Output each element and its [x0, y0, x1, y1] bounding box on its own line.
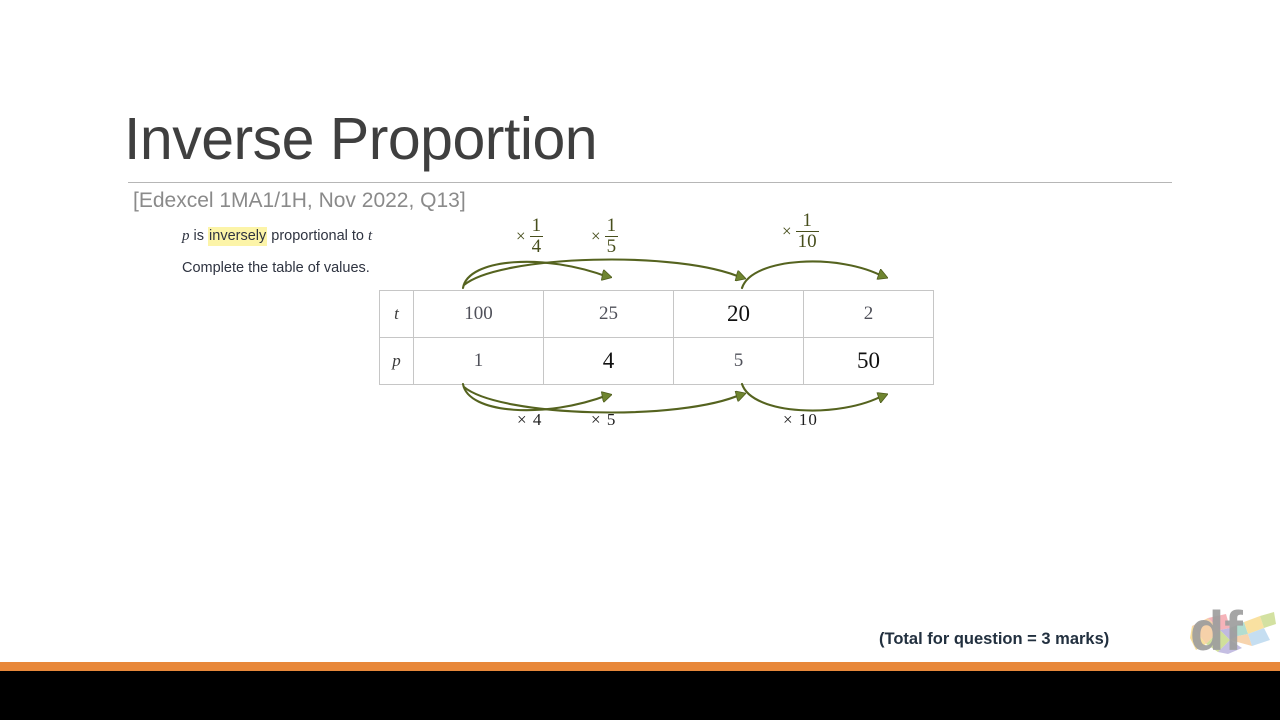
cell-p-3[interactable]: 5 [674, 338, 804, 385]
fraction-one-fifth: 15 [605, 216, 619, 257]
variable-t: t [368, 228, 372, 244]
fraction-one-tenth: 110 [796, 211, 819, 252]
times-sign-1: × [516, 226, 526, 245]
question-statement-line1: p is inversely proportional to t [182, 227, 372, 245]
label-times-four: × 4 [517, 410, 542, 430]
title-divider [128, 182, 1172, 183]
arc-p-5-to-50 [742, 384, 884, 411]
cell-p-4[interactable]: 50 [804, 338, 934, 385]
fraction-numerator: 1 [796, 211, 819, 231]
drfrostmaths-logo: df [1186, 592, 1278, 658]
variable-p: p [182, 228, 190, 244]
times-sign-3: × [782, 221, 792, 240]
fraction-denominator: 10 [796, 231, 819, 252]
highlighted-word-inversely: inversely [208, 227, 267, 246]
label-times-one-quarter: ×14 [516, 216, 543, 257]
table-row-p: p 1 4 5 50 [380, 338, 934, 385]
fraction-numerator: 1 [605, 216, 619, 236]
values-table: t 100 25 20 2 p 1 4 5 50 [379, 290, 934, 385]
fraction-one-quarter: 14 [530, 216, 544, 257]
arc-t-100-to-25 [463, 262, 608, 288]
cell-t-3[interactable]: 20 [674, 291, 804, 338]
arc-t-100-to-20 [464, 260, 742, 285]
table-row-t: t 100 25 20 2 [380, 291, 934, 338]
logo-letters: df [1190, 599, 1243, 658]
label-times-five: × 5 [591, 410, 616, 430]
fraction-denominator: 4 [530, 236, 544, 257]
arc-p-1-to-4 [463, 384, 608, 410]
fraction-numerator: 1 [530, 216, 544, 236]
arc-t-20-to-2 [742, 261, 884, 288]
question-text-is: is [190, 228, 209, 244]
question-text-proportional: proportional to [267, 228, 368, 244]
label-times-one-tenth: ×110 [782, 211, 819, 252]
cell-t-2[interactable]: 25 [544, 291, 674, 338]
label-times-ten: × 10 [783, 410, 818, 430]
label-times-one-fifth: ×15 [591, 216, 618, 257]
footer-black-bar [0, 671, 1280, 720]
cell-p-1[interactable]: 1 [414, 338, 544, 385]
question-statement-line2: Complete the table of values. [182, 259, 370, 277]
cell-p-2[interactable]: 4 [544, 338, 674, 385]
page-title: Inverse Proportion [124, 103, 597, 175]
fraction-denominator: 5 [605, 236, 619, 257]
row-label-t: t [380, 291, 414, 338]
total-marks-text: (Total for question = 3 marks) [879, 630, 1109, 649]
footer-accent-bar [0, 662, 1280, 671]
cell-t-1[interactable]: 100 [414, 291, 544, 338]
times-sign-2: × [591, 226, 601, 245]
cell-t-4[interactable]: 2 [804, 291, 934, 338]
row-label-p: p [380, 338, 414, 385]
slide-canvas: Inverse Proportion [Edexcel 1MA1/1H, Nov… [0, 0, 1280, 720]
arc-p-1-to-5 [464, 387, 742, 412]
exam-reference-subtitle: [Edexcel 1MA1/1H, Nov 2022, Q13] [133, 189, 466, 213]
